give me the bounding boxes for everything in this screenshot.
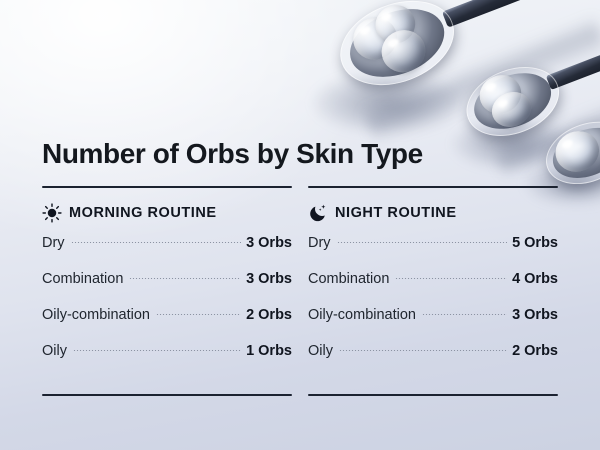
skin-type-label: Combination <box>308 271 389 287</box>
dotted-leader <box>339 350 507 351</box>
table-row: Dry 5 Orbs <box>308 235 558 271</box>
orb-count-value: 3 Orbs <box>512 307 558 323</box>
orb-count-value: 5 Orbs <box>512 235 558 251</box>
sun-icon <box>42 203 62 223</box>
routine-heading-label: NIGHT ROUTINE <box>335 205 457 221</box>
dotted-leader <box>73 350 241 351</box>
dotted-leader <box>129 278 241 279</box>
dotted-leader <box>71 242 242 243</box>
orb-count-value: 4 Orbs <box>512 271 558 287</box>
table-row: Combination 3 Orbs <box>42 271 292 307</box>
page-title: Number of Orbs by Skin Type <box>42 138 423 170</box>
table-row: Oily-combination 3 Orbs <box>308 307 558 343</box>
orb-count-list-morning: Dry 3 Orbs Combination 3 Orbs Oily-combi… <box>42 235 292 379</box>
column-divider-bottom <box>308 394 558 396</box>
skin-type-label: Oily-combination <box>42 307 150 323</box>
dotted-leader <box>337 242 508 243</box>
column-divider-top <box>308 186 558 188</box>
orb-count-value: 3 Orbs <box>246 235 292 251</box>
table-row: Oily-combination 2 Orbs <box>42 307 292 343</box>
column-divider-top <box>42 186 292 188</box>
orb-count-list-night: Dry 5 Orbs Combination 4 Orbs Oily-combi… <box>308 235 558 379</box>
orb-count-infographic: Number of Orbs by Skin Type <box>0 0 600 450</box>
skin-type-label: Oily <box>42 343 67 359</box>
orb-count-value: 2 Orbs <box>512 343 558 359</box>
table-row: Oily 1 Orbs <box>42 343 292 379</box>
skin-type-label: Dry <box>308 235 331 251</box>
orb-count-value: 2 Orbs <box>246 307 292 323</box>
routine-heading-morning: MORNING ROUTINE <box>42 199 292 227</box>
orb-count-value: 3 Orbs <box>246 271 292 287</box>
skin-type-label: Oily <box>308 343 333 359</box>
infographic-content: Number of Orbs by Skin Type <box>0 0 600 450</box>
table-row: Oily 2 Orbs <box>308 343 558 379</box>
routine-columns: MORNING ROUTINE Dry 3 Orbs Combination 3… <box>42 186 558 396</box>
column-divider-bottom <box>42 394 292 396</box>
table-row: Combination 4 Orbs <box>308 271 558 307</box>
routine-heading-night: NIGHT ROUTINE <box>308 199 558 227</box>
dotted-leader <box>395 278 507 279</box>
table-row: Dry 3 Orbs <box>42 235 292 271</box>
routine-column-night: NIGHT ROUTINE Dry 5 Orbs Combination 4 O… <box>308 186 558 396</box>
moon-icon <box>308 203 328 223</box>
dotted-leader <box>422 314 507 315</box>
skin-type-label: Combination <box>42 271 123 287</box>
routine-column-morning: MORNING ROUTINE Dry 3 Orbs Combination 3… <box>42 186 292 396</box>
dotted-leader <box>156 314 241 315</box>
routine-heading-label: MORNING ROUTINE <box>69 205 217 221</box>
orb-count-value: 1 Orbs <box>246 343 292 359</box>
skin-type-label: Oily-combination <box>308 307 416 323</box>
skin-type-label: Dry <box>42 235 65 251</box>
